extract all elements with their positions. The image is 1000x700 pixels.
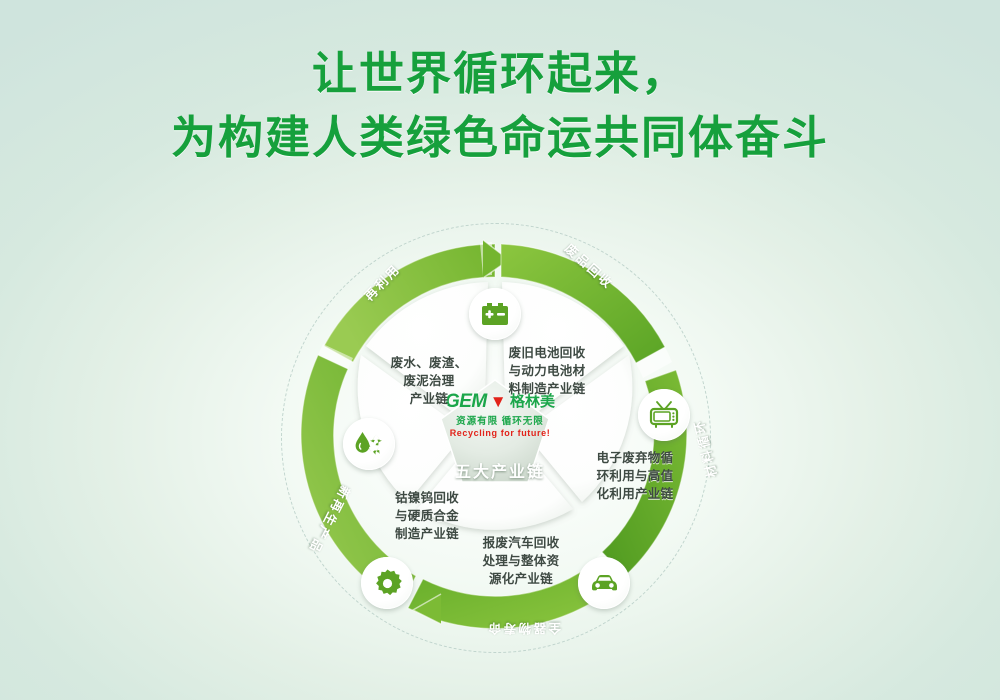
chain-label-battery: 废旧电池回收 与动力电池材 料制造产业链 [493, 344, 601, 398]
battery-icon [480, 300, 510, 328]
battery-icon-bubble [469, 288, 521, 340]
chain-label-cobalt: 钴镍钨回收 与硬质合金 制造产业链 [373, 489, 481, 543]
car-icon-bubble [578, 557, 630, 609]
title-line-2: 为构建人类绿色命运共同体奋斗 [0, 106, 1000, 170]
tv-icon [649, 401, 679, 430]
poster-canvas: 让世界循环起来， 为构建人类绿色命运共同体奋斗 [0, 0, 1000, 700]
gear-icon [373, 569, 402, 598]
gear-icon-bubble [361, 557, 413, 609]
logo-slogan-cn: 资源有限 循环无限 [431, 413, 569, 427]
water-recycle-icon [353, 430, 385, 458]
center-label: 五大产业链 [431, 458, 569, 482]
tv-icon-bubble [638, 389, 690, 441]
circular-economy-diagram: 再利用 废品回收 材料循环 全器物寿命 新再生产品 [281, 214, 719, 682]
car-icon [589, 571, 620, 595]
logo-slogan-en: Recycling for future! [431, 428, 569, 438]
water-recycle-icon-bubble [343, 418, 395, 470]
chain-label-electronics: 电子废弃物循 环利用与高值 化利用产业链 [583, 449, 687, 503]
page-title: 让世界循环起来， 为构建人类绿色命运共同体奋斗 [0, 42, 1000, 170]
chain-label-vehicle: 报废汽车回收 处理与整体资 源化产业链 [467, 534, 575, 588]
chain-label-water: 废水、废渣、 废泥治理 产业链 [377, 354, 481, 408]
ring-label-product-life: 全器物寿命 [486, 620, 561, 639]
title-line-1: 让世界循环起来， [312, 48, 688, 99]
